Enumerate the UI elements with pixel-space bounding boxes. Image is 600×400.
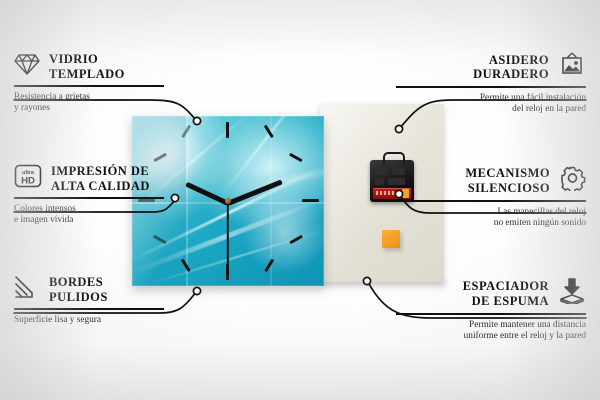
feature-title: ESPACIADOR DE ESPUMA: [463, 279, 549, 308]
ultra-hd-badge-icon: ultra HD: [14, 164, 42, 193]
feature-callout-bordes-pulidos: BORDES PULIDOS Superficie lisa y segura: [14, 275, 164, 326]
feature-heading: ultra HD IMPRESIÓN DE ALTA CALIDAD: [14, 164, 164, 193]
feature-description: Superficie lisa y segura: [14, 315, 164, 327]
hanger-icon: [383, 152, 405, 164]
feature-title: BORDES PULIDOS: [49, 275, 108, 304]
feature-callout-impresion-alta-calidad: ultra HD IMPRESIÓN DE ALTA CALIDAD Color…: [14, 164, 164, 227]
feature-description: Permite mantener una distancia uniforme …: [396, 320, 586, 343]
feature-callout-mecanismo-silencioso: MECANISMO SILENCIOSO Las manecillas del …: [396, 165, 586, 230]
foam-spacer: [382, 230, 400, 248]
feature-description: Colores intensos e imagen vívida: [14, 204, 164, 227]
feature-callout-asidero-duradero: ASIDERO DURADERO Permite una fácil insta…: [396, 52, 586, 116]
clock-tick: [226, 264, 229, 280]
feature-heading: MECANISMO SILENCIOSO: [396, 165, 586, 196]
feature-callout-espaciador-de-espuma: ESPACIADOR DE ESPUMA Permite mantener un…: [396, 278, 586, 343]
second-hand: [227, 203, 229, 265]
divider: [14, 308, 164, 310]
feature-title: VIDRIO TEMPLADO: [49, 52, 125, 81]
feature-title: IMPRESIÓN DE ALTA CALIDAD: [51, 164, 150, 193]
mechanism-detail: [375, 178, 384, 185]
clock-tick: [226, 122, 229, 138]
foam-spacer-arrow-icon: [558, 278, 586, 309]
feature-description: Resistencia a grietas y rayones: [14, 92, 164, 115]
gear-icon: [559, 165, 586, 196]
feature-heading: VIDRIO TEMPLADO: [14, 52, 164, 81]
feature-callout-vidrio-templado: VIDRIO TEMPLADO Resistencia a grietas y …: [14, 52, 164, 115]
mechanism-detail: [375, 167, 388, 175]
divider: [14, 85, 164, 87]
feature-heading: ESPACIADOR DE ESPUMA: [396, 278, 586, 309]
divider: [396, 200, 586, 202]
divider: [396, 313, 586, 315]
divider: [396, 86, 586, 88]
polished-edges-icon: [14, 275, 40, 304]
infographic-canvas: VIDRIO TEMPLADO Resistencia a grietas y …: [0, 0, 600, 400]
picture-hanger-icon: [558, 52, 586, 82]
feature-title: MECANISMO SILENCIOSO: [465, 166, 550, 195]
feature-heading: BORDES PULIDOS: [14, 275, 164, 304]
glass-grid-line: [186, 116, 188, 286]
divider: [14, 197, 164, 199]
clock-tick: [302, 199, 319, 202]
feature-heading: ASIDERO DURADERO: [396, 52, 586, 82]
feature-description: Permite una fácil instalación del reloj …: [396, 93, 586, 116]
badge-bottom-label: HD: [21, 175, 35, 186]
clock-center-hub: [225, 198, 231, 204]
diamond-icon: [14, 52, 40, 81]
clock-tick: [289, 153, 302, 162]
feature-description: Las manecillas del reloj no emiten ningú…: [396, 207, 586, 230]
feature-title: ASIDERO DURADERO: [473, 53, 549, 82]
